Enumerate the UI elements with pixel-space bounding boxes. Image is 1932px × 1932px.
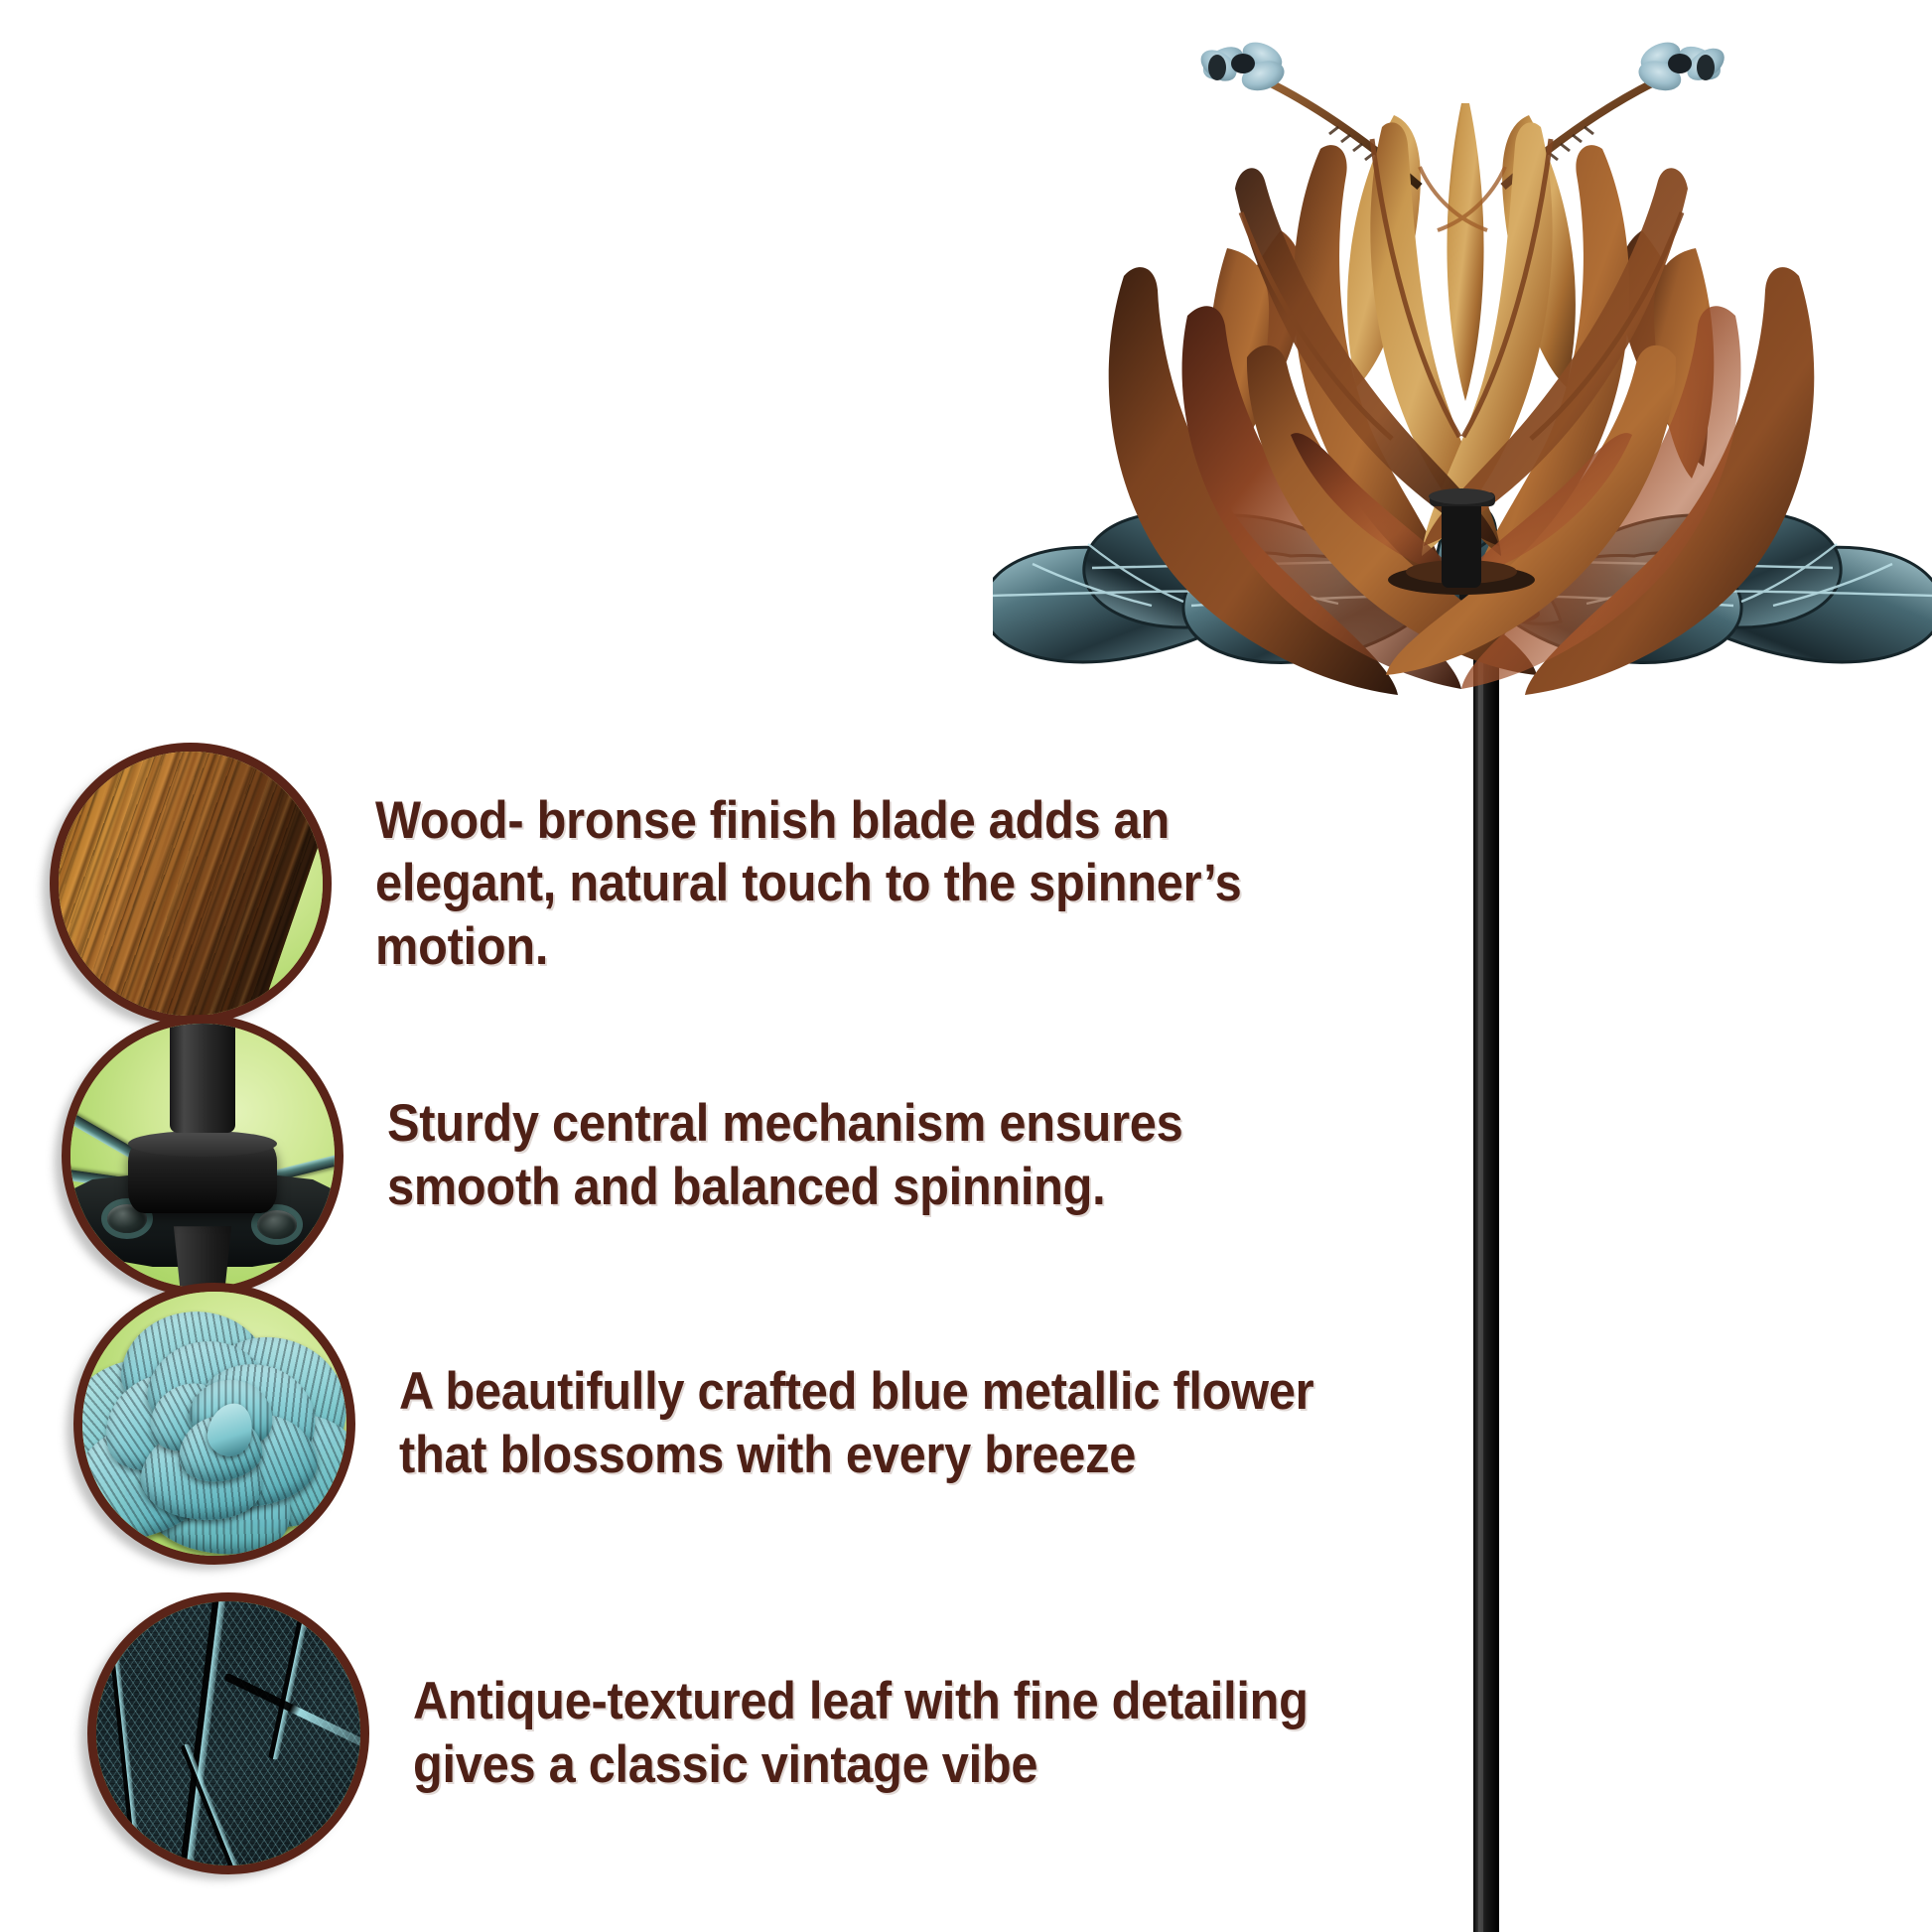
hub-cap: [128, 1140, 277, 1213]
feature-caption-wood-bronze-blade: Wood- bronse finish blade adds an elegan…: [375, 789, 1161, 979]
caption-line: motion.: [375, 915, 1161, 979]
caption-line: Sturdy central mechanism ensures: [387, 1092, 1173, 1156]
caption-line: that blossoms with every breeze: [399, 1424, 1184, 1487]
feature-caption-central-mechanism: Sturdy central mechanism ensures smooth …: [387, 1092, 1173, 1218]
infographic-page: Wood- bronse finish blade adds an elegan…: [0, 0, 1932, 1932]
feature-caption-antique-textured-leaf: Antique-textured leaf with fine detailin…: [413, 1670, 1198, 1796]
feature-row-central-mechanism: Sturdy central mechanism ensures smooth …: [62, 1015, 1241, 1297]
bubble-photo-antique-leaf: [92, 1597, 364, 1869]
caption-line: Antique-textured leaf with fine detailin…: [413, 1670, 1198, 1733]
central-hub-mechanism-closeup-icon: [62, 1015, 344, 1297]
caption-line: elegant, natural touch to the spinner’s: [375, 852, 1161, 915]
antique-leaf-texture-closeup-icon: [87, 1592, 369, 1874]
bubble-photo-wood-blade: [55, 748, 327, 1020]
wood-grain-blade-closeup-icon: [50, 743, 332, 1025]
caption-line: A beautifully crafted blue metallic flow…: [399, 1360, 1184, 1424]
bubble-photo-blue-flower: [78, 1288, 350, 1560]
feature-row-wood-bronze-blade: Wood- bronse finish blade adds an elegan…: [50, 743, 1229, 1025]
feature-row-antique-textured-leaf: Antique-textured leaf with fine detailin…: [87, 1592, 1267, 1874]
bubble-photo-central-mechanism: [67, 1020, 339, 1292]
wood-grain-texture: [50, 743, 332, 1025]
ground-stake-pole: [1473, 596, 1499, 1932]
feature-caption-blue-metallic-flower: A beautifully crafted blue metallic flow…: [399, 1360, 1184, 1486]
blue-metallic-flower-closeup-icon: [73, 1283, 355, 1565]
hub-shaft: [170, 1015, 235, 1133]
caption-line: smooth and balanced spinning.: [387, 1156, 1173, 1219]
hub-bolt: [257, 1210, 297, 1239]
feature-row-blue-metallic-flower: A beautifully crafted blue metallic flow…: [73, 1283, 1253, 1565]
caption-line: Wood- bronse finish blade adds an: [375, 789, 1161, 853]
caption-line: gives a classic vintage vibe: [413, 1733, 1198, 1797]
